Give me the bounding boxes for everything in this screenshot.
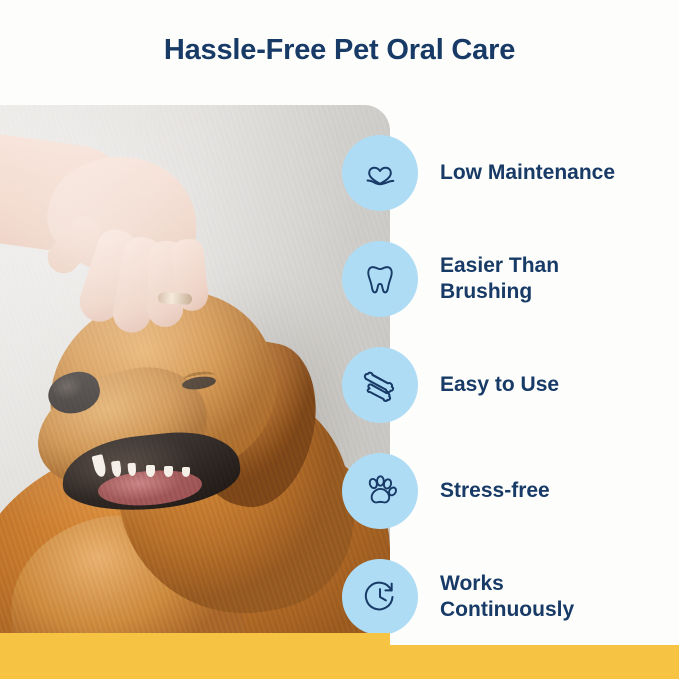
clock-icon (360, 577, 400, 617)
feature-item-works-continuously: Works Continuously (342, 558, 672, 636)
feature-badge (342, 453, 418, 529)
feature-item-easy-to-use: Easy to Use (342, 346, 672, 424)
feature-label: Low Maintenance (440, 160, 615, 186)
feature-item-stress-free: Stress-free (342, 452, 672, 530)
tooth-icon (361, 260, 399, 298)
bottom-bar-cap (0, 633, 390, 645)
feature-badge (342, 135, 418, 211)
dog-bone-icon (359, 364, 401, 406)
feature-label: Easy to Use (440, 372, 559, 398)
bottom-accent-bar (0, 645, 679, 679)
feature-item-low-maintenance: Low Maintenance (342, 134, 672, 212)
product-photo (0, 105, 390, 645)
infographic-panel: Hassle-Free Pet Oral Care (0, 0, 679, 679)
paw-print-icon (360, 471, 400, 511)
feature-badge (342, 241, 418, 317)
feature-label: Stress-free (440, 478, 550, 504)
photo-vignette (0, 105, 390, 645)
feature-item-easier-than-brushing: Easier Than Brushing (342, 240, 672, 318)
feature-label: Easier Than Brushing (440, 253, 630, 304)
feature-badge (342, 559, 418, 635)
feature-label: Works Continuously (440, 571, 630, 622)
heart-with-swoosh-icon (360, 153, 400, 193)
page-title: Hassle-Free Pet Oral Care (0, 34, 679, 67)
feature-badge (342, 347, 418, 423)
feature-list: Low Maintenance Easier Than Brushing (342, 134, 672, 636)
